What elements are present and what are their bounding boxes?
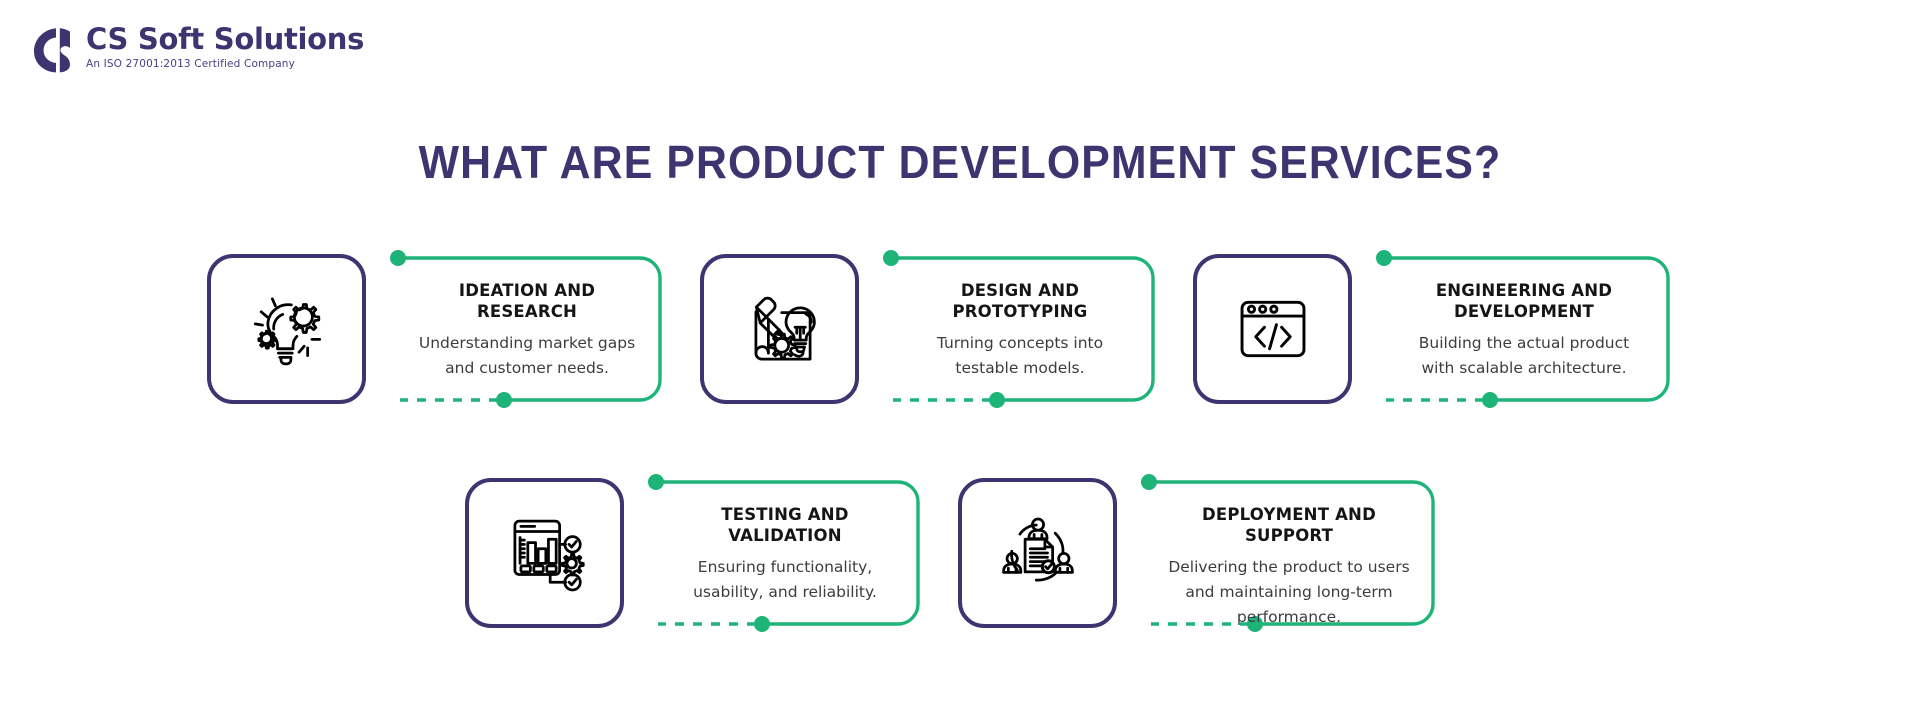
brand-name: CS Soft Solutions — [86, 24, 364, 54]
lightbulb-gears-icon — [244, 286, 330, 372]
step-testing-and-validation[interactable]: TESTING AND VALIDATION Ensuring function… — [465, 478, 922, 631]
step-engineering-and-development[interactable]: ENGINEERING AND DEVELOPMENT Building the… — [1193, 254, 1672, 407]
brand-tagline: An ISO 27001:2013 Certified Company — [86, 58, 364, 70]
step-icon-tile — [207, 254, 366, 404]
connector-dot-bottom — [1482, 392, 1498, 408]
step-text-panel: IDEATION AND RESEARCH Understanding mark… — [386, 254, 664, 407]
step-text-panel: DEPLOYMENT AND SUPPORT Delivering the pr… — [1137, 478, 1437, 657]
step-ideation-and-research[interactable]: IDEATION AND RESEARCH Understanding mark… — [207, 254, 664, 407]
step-description: Delivering the product to users and main… — [1167, 555, 1411, 630]
team-document-check-icon — [995, 510, 1081, 596]
step-description: Understanding market gaps and customer n… — [416, 331, 638, 381]
code-window-icon — [1230, 286, 1316, 372]
connector-dot-top — [648, 474, 664, 490]
step-icon-tile — [700, 254, 859, 404]
connector-dot-top — [390, 250, 406, 266]
step-icon-tile — [1193, 254, 1352, 404]
step-description: Building the actual product with scalabl… — [1402, 331, 1646, 381]
step-title: ENGINEERING AND DEVELOPMENT — [1402, 280, 1646, 322]
brand-logo[interactable]: CS Soft Solutions An ISO 27001:2013 Cert… — [30, 24, 364, 74]
step-design-and-prototyping[interactable]: DESIGN AND PROTOTYPING Turning concepts … — [700, 254, 1157, 407]
step-title: TESTING AND VALIDATION — [674, 504, 896, 546]
step-title: DESIGN AND PROTOTYPING — [909, 280, 1131, 322]
step-title: IDEATION AND RESEARCH — [416, 280, 638, 322]
step-text-panel: DESIGN AND PROTOTYPING Turning concepts … — [879, 254, 1157, 407]
dashboard-checks-gear-icon — [502, 510, 588, 596]
step-icon-tile — [465, 478, 624, 628]
connector-dot-bottom — [496, 392, 512, 408]
step-title: DEPLOYMENT AND SUPPORT — [1167, 504, 1411, 546]
steps-row-top: IDEATION AND RESEARCH Understanding mark… — [207, 254, 1672, 407]
connector-dot-bottom — [754, 616, 770, 632]
connector-dot-top — [883, 250, 899, 266]
blueprint-pencil-bulb-icon — [737, 286, 823, 372]
step-description: Ensuring functionality, usability, and r… — [674, 555, 896, 605]
page-title: WHAT ARE PRODUCT DEVELOPMENT SERVICES? — [67, 135, 1853, 189]
step-icon-tile — [958, 478, 1117, 628]
connector-dot-bottom — [989, 392, 1005, 408]
connector-dot-top — [1376, 250, 1392, 266]
connector-dot-top — [1141, 474, 1157, 490]
step-text-panel: ENGINEERING AND DEVELOPMENT Building the… — [1372, 254, 1672, 407]
steps-row-bottom: TESTING AND VALIDATION Ensuring function… — [465, 478, 1437, 657]
cs-monogram-icon — [30, 26, 74, 74]
step-deployment-and-support[interactable]: DEPLOYMENT AND SUPPORT Delivering the pr… — [958, 478, 1437, 657]
step-description: Turning concepts into testable models. — [909, 331, 1131, 381]
infographic-page: CS Soft Solutions An ISO 27001:2013 Cert… — [0, 0, 1920, 728]
step-text-panel: TESTING AND VALIDATION Ensuring function… — [644, 478, 922, 631]
